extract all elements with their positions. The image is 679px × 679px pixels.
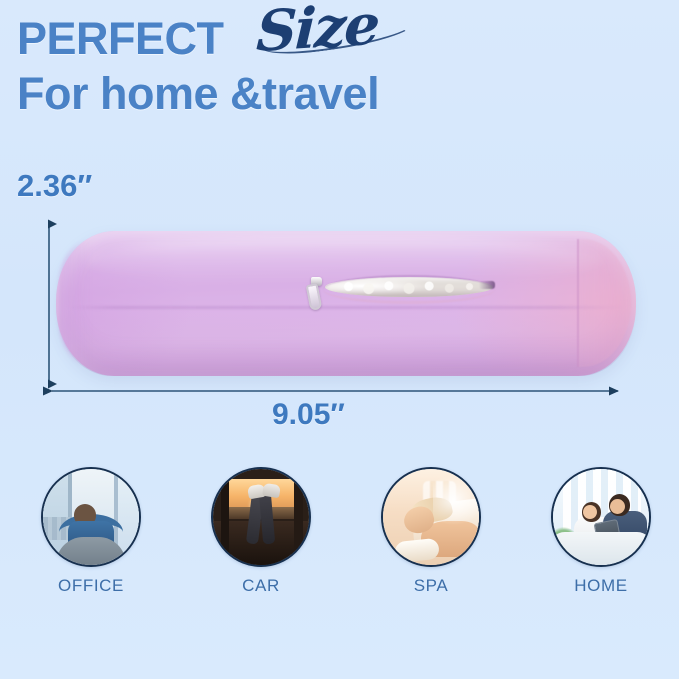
height-dimension-label: 2.36′′: [17, 168, 92, 204]
heading-block: PERFECT Size For home &travel: [17, 14, 657, 120]
heading-perfect-text: PERFECT: [17, 14, 224, 64]
usecase-home: HOME: [546, 467, 656, 596]
heading-line-1: PERFECT Size: [17, 14, 657, 66]
usecase-spa-label: SPA: [376, 576, 486, 596]
usecase-office-label: OFFICE: [36, 576, 146, 596]
zipper-teeth: [479, 281, 495, 289]
usecase-car-photo: [211, 467, 311, 567]
spa-scene: [383, 469, 479, 565]
width-dimension-arrow: [40, 380, 630, 402]
usecase-car: CAR: [206, 467, 316, 596]
usecase-car-label: CAR: [206, 576, 316, 596]
heading-line-2: For home &travel: [17, 68, 657, 120]
infographic-page: PERFECT Size For home &travel 2.36′′ 9.0…: [0, 0, 679, 679]
usecase-office-photo: [41, 467, 141, 567]
usecase-spa: SPA: [376, 467, 486, 596]
usecase-spa-photo: [381, 467, 481, 567]
product-pillow-image: [56, 231, 636, 376]
car-scene: [213, 469, 309, 565]
home-scene: [553, 469, 649, 565]
office-scene: [43, 469, 139, 565]
width-dimension-label: 9.05′′: [272, 398, 345, 432]
usecase-home-photo: [551, 467, 651, 567]
zipper-gap: [325, 277, 493, 297]
usecase-home-label: HOME: [546, 576, 656, 596]
memory-foam-filling: [325, 277, 493, 297]
usecase-row: OFFICE CAR: [0, 467, 679, 602]
pillow-zipper-opening: [303, 273, 493, 307]
usecase-office: OFFICE: [36, 467, 146, 596]
zipper-pull-tab-icon: [306, 283, 323, 311]
heading-size-script-text: Size: [255, 0, 380, 64]
